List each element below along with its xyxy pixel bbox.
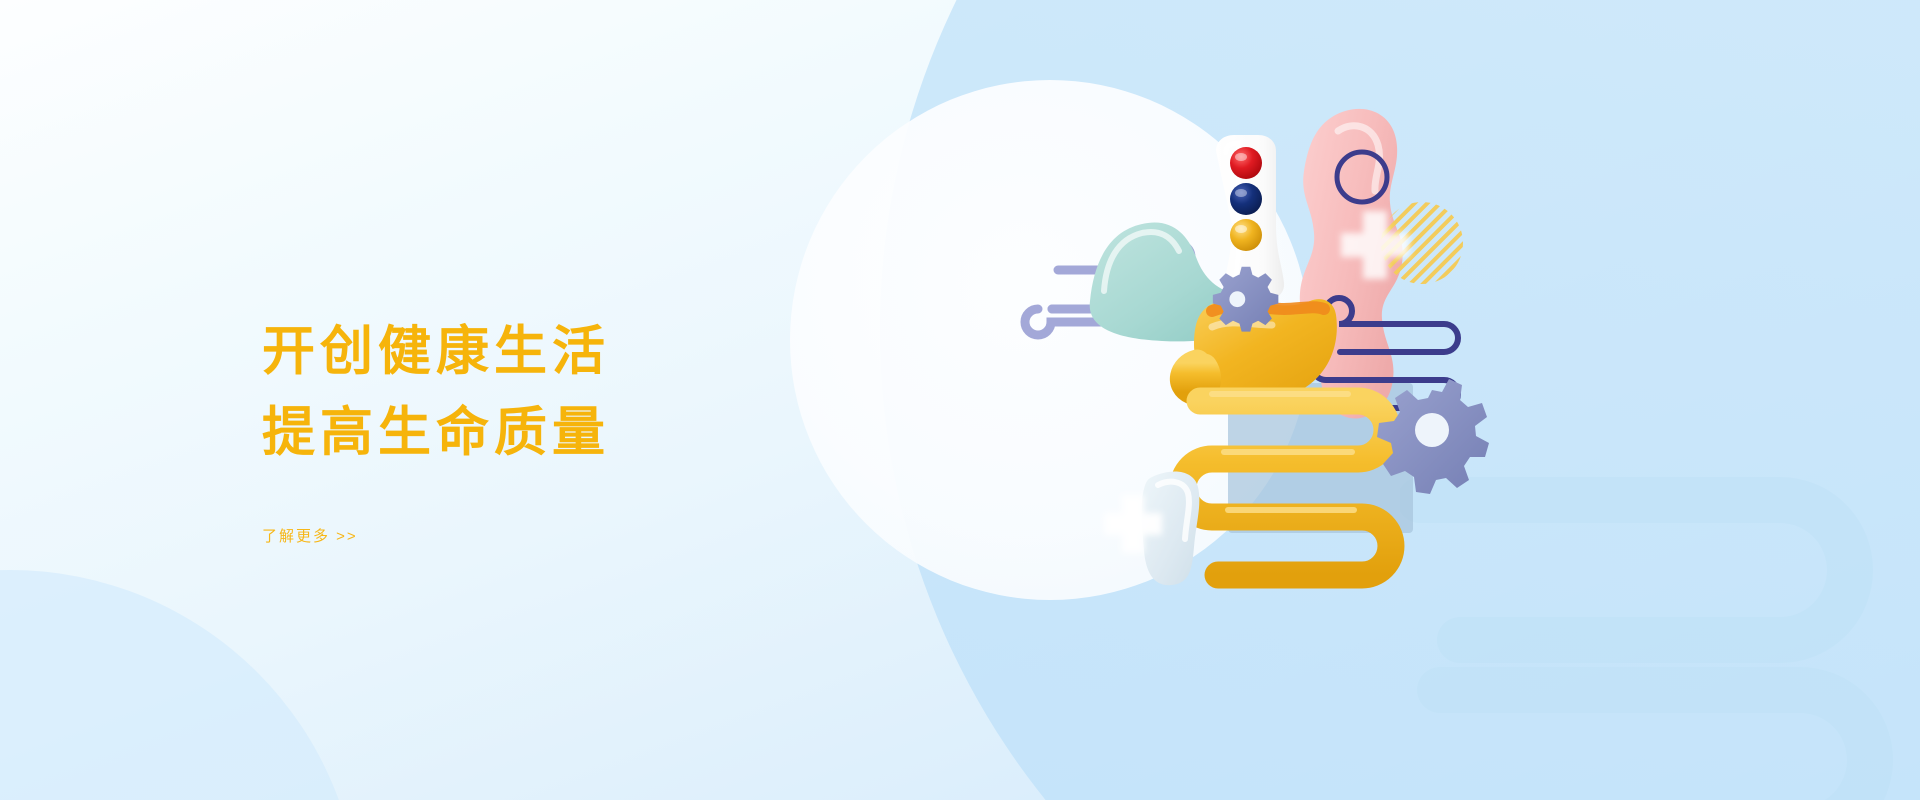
pill-red-icon: [1230, 147, 1262, 179]
health-hero-banner: 开创健康生活 提高生命质量 了解更多 >>: [0, 0, 1920, 800]
page-title: 开创健康生活 提高生命质量: [262, 312, 882, 473]
hero-copy-block: 开创健康生活 提高生命质量 了解更多 >>: [262, 312, 882, 546]
headline-line-2: 提高生命质量: [262, 393, 882, 474]
pill-navy-icon: [1230, 183, 1262, 215]
gear-small-icon: [1213, 267, 1279, 332]
learn-more-link[interactable]: 了解更多 >>: [262, 525, 358, 546]
background-circle-bottom-left: [0, 570, 360, 800]
headline-line-1: 开创健康生活: [262, 322, 610, 381]
pill-gold-icon: [1230, 219, 1262, 251]
digestive-system-illustration: [1100, 95, 1660, 655]
pill-stack: [1230, 147, 1262, 251]
